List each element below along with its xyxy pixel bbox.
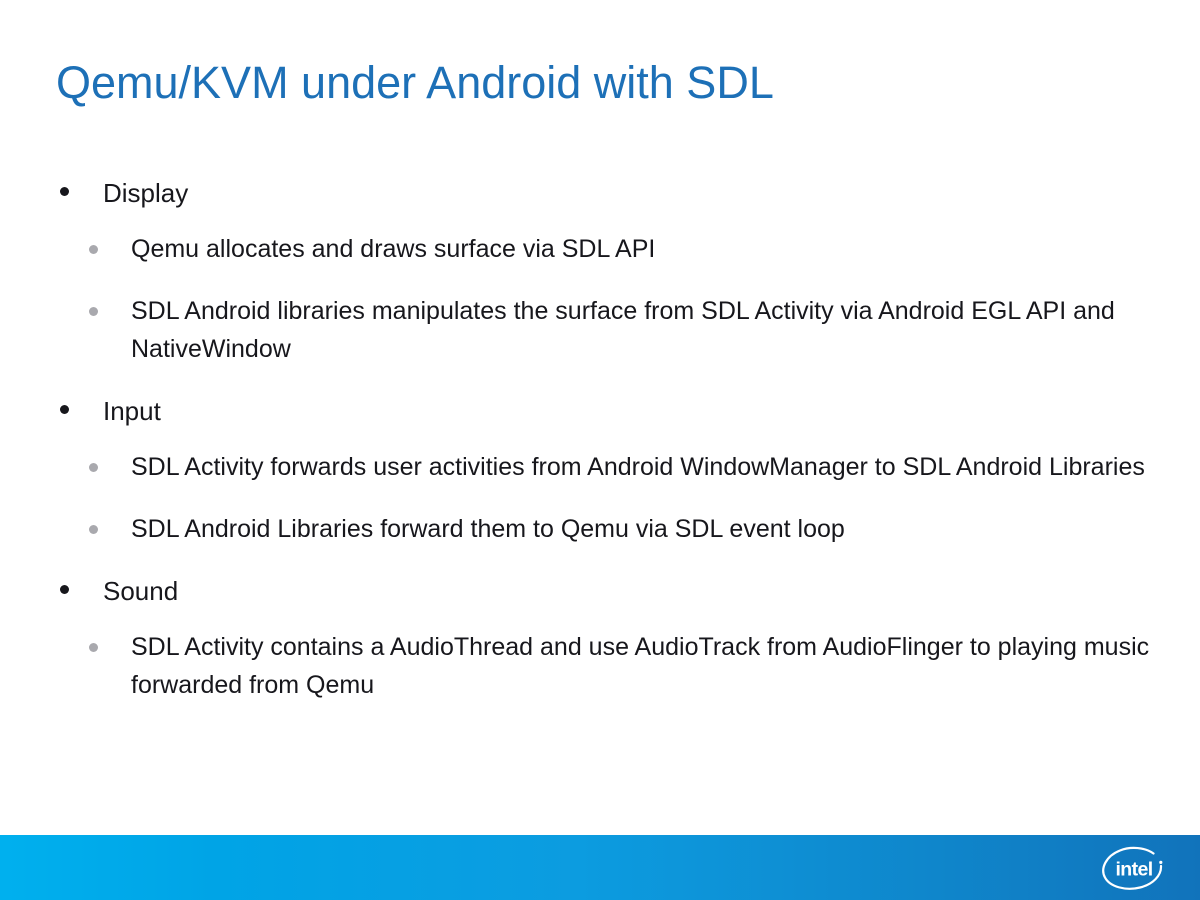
bullet-level2-item: SDL Activity forwards user activities fr… <box>0 448 1160 486</box>
slide: Qemu/KVM under Android with SDL Display … <box>0 0 1200 900</box>
bullet-level2-label: SDL Android libraries manipulates the su… <box>131 297 1115 363</box>
bullet-group-input: Input SDL Activity forwards user activit… <box>0 394 1160 548</box>
intel-wordmark: intel <box>1115 858 1152 880</box>
sub-bullet-dot-icon <box>89 307 98 316</box>
bullet-dot-icon <box>60 585 69 594</box>
bullet-level1-label: Display <box>103 178 188 208</box>
page-title: Qemu/KVM under Android with SDL <box>56 56 1146 110</box>
bullet-group-display: Display Qemu allocates and draws surface… <box>0 176 1160 368</box>
bullet-level2-label: Qemu allocates and draws surface via SDL… <box>131 235 655 263</box>
bullet-level2-item: SDL Android libraries manipulates the su… <box>0 292 1160 368</box>
bullet-level1-display: Display <box>0 176 1160 210</box>
bullet-level1-input: Input <box>0 394 1160 428</box>
bullet-level1-label: Sound <box>103 576 178 606</box>
bullet-level2-item: SDL Activity contains a AudioThread and … <box>0 628 1160 704</box>
bullet-group-sound: Sound SDL Activity contains a AudioThrea… <box>0 574 1160 704</box>
bullet-level2-item: Qemu allocates and draws surface via SDL… <box>0 230 1160 268</box>
bullet-level1-label: Input <box>103 396 161 426</box>
footer-bar: intel <box>0 835 1200 900</box>
sub-bullet-dot-icon <box>89 245 98 254</box>
sub-bullet-dot-icon <box>89 643 98 652</box>
bullet-level1-sound: Sound <box>0 574 1160 608</box>
bullet-level2-item: SDL Android Libraries forward them to Qe… <box>0 510 1160 548</box>
bullet-dot-icon <box>60 187 69 196</box>
bullet-level2-label: SDL Android Libraries forward them to Qe… <box>131 515 845 543</box>
slide-body: Display Qemu allocates and draws surface… <box>0 176 1160 728</box>
bullet-level2-label: SDL Activity contains a AudioThread and … <box>131 633 1149 699</box>
sub-bullet-dot-icon <box>89 525 98 534</box>
bullet-level2-label: SDL Activity forwards user activities fr… <box>131 453 1145 481</box>
sub-bullet-dot-icon <box>89 463 98 472</box>
bullet-dot-icon <box>60 405 69 414</box>
intel-logo: intel <box>1096 844 1174 892</box>
